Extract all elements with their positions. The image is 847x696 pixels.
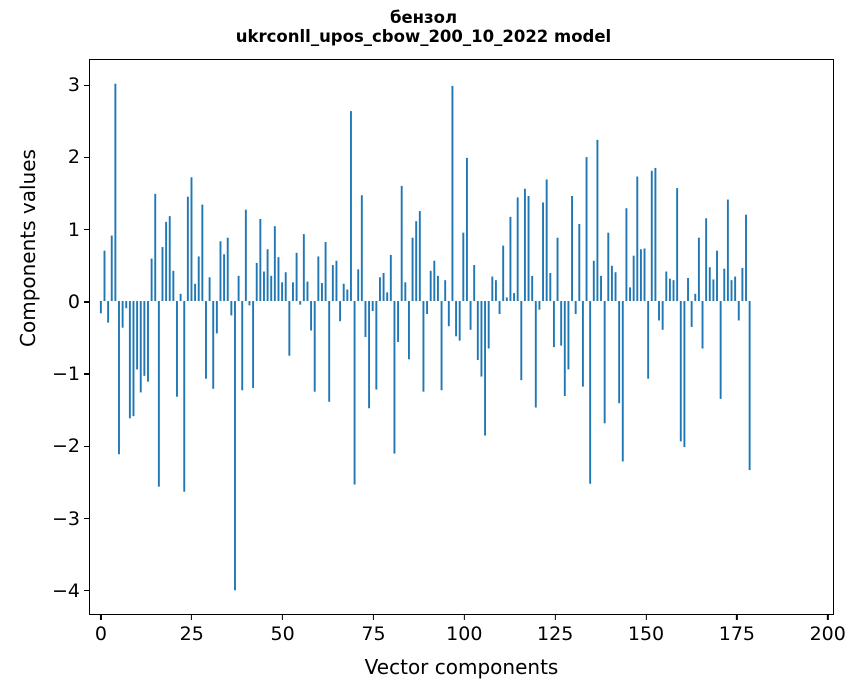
- bar: [267, 249, 269, 301]
- bar: [158, 301, 160, 487]
- y-tick-mark: [84, 301, 90, 302]
- bar: [691, 301, 693, 327]
- bar: [578, 224, 580, 301]
- bar: [332, 265, 334, 301]
- bar: [350, 111, 352, 301]
- x-tick: 150: [628, 614, 664, 645]
- bar: [104, 251, 106, 301]
- bar: [143, 301, 145, 376]
- bar: [415, 221, 417, 301]
- bar: [538, 301, 540, 310]
- x-tick-mark: [736, 614, 737, 620]
- bar: [723, 269, 725, 301]
- y-tick-mark: [84, 229, 90, 230]
- bar: [542, 202, 544, 301]
- bar: [694, 294, 696, 301]
- bar: [549, 273, 551, 301]
- x-tick-mark: [827, 614, 828, 620]
- bar: [553, 301, 555, 347]
- bar: [303, 234, 305, 301]
- bar: [615, 272, 617, 301]
- bar: [270, 276, 272, 301]
- figure: бензол ukrconll_upos_cbow_200_10_2022 mo…: [0, 0, 847, 696]
- bar: [198, 256, 200, 301]
- bar: [278, 257, 280, 301]
- bar: [140, 301, 142, 392]
- x-tick-mark: [373, 614, 374, 620]
- bar: [444, 280, 446, 301]
- bar: [223, 254, 225, 301]
- bar: [122, 301, 124, 328]
- bar: [567, 301, 569, 369]
- bar: [513, 293, 515, 301]
- bar: [368, 301, 370, 408]
- bar: [662, 301, 664, 330]
- x-tick: 0: [95, 614, 107, 645]
- bar: [705, 218, 707, 301]
- bar: [738, 301, 740, 320]
- bar: [111, 236, 113, 301]
- y-tick: 0: [68, 291, 90, 313]
- bar: [647, 301, 649, 379]
- bar: [484, 301, 486, 436]
- bar: [412, 238, 414, 301]
- bar: [386, 292, 388, 301]
- y-tick-label: 0: [68, 291, 80, 313]
- bar: [607, 233, 609, 301]
- bar: [354, 301, 356, 484]
- y-tick-mark: [84, 446, 90, 447]
- bar: [618, 301, 620, 403]
- bar: [658, 301, 660, 320]
- bar: [328, 301, 330, 402]
- x-tick: 50: [271, 614, 295, 645]
- bar: [169, 216, 171, 301]
- bar: [183, 301, 185, 492]
- bar: [394, 301, 396, 454]
- bar: [256, 263, 258, 301]
- bar: [118, 301, 120, 454]
- bar: [517, 197, 519, 301]
- bar: [491, 277, 493, 301]
- y-tick: 3: [68, 74, 90, 96]
- bar: [433, 261, 435, 301]
- bar: [622, 301, 624, 461]
- bar: [589, 301, 591, 484]
- bar: [133, 301, 135, 416]
- bar: [473, 265, 475, 301]
- bar: [596, 140, 598, 301]
- x-tick-label: 100: [446, 623, 482, 645]
- bar: [629, 287, 631, 301]
- bar: [299, 301, 301, 305]
- bar: [520, 301, 522, 380]
- bar: [680, 301, 682, 441]
- bar: [205, 301, 207, 379]
- bar: [716, 251, 718, 301]
- bar: [201, 205, 203, 301]
- bar: [216, 301, 218, 333]
- bar: [731, 280, 733, 301]
- x-tick-label: 200: [810, 623, 846, 645]
- bar: [281, 282, 283, 301]
- bar: [604, 301, 606, 423]
- y-tick-mark: [84, 85, 90, 86]
- bar: [673, 280, 675, 301]
- y-tick-label: 3: [68, 74, 80, 96]
- bar: [524, 189, 526, 301]
- bar: [480, 301, 482, 377]
- x-tick-mark: [464, 614, 465, 620]
- bar: [114, 84, 116, 301]
- bar: [502, 246, 504, 301]
- bar: [640, 249, 642, 301]
- bar: [654, 168, 656, 301]
- x-tick-label: 25: [180, 623, 204, 645]
- y-tick-mark: [84, 590, 90, 591]
- bar: [234, 301, 236, 590]
- bar: [698, 238, 700, 301]
- bar: [531, 276, 533, 301]
- bar: [676, 188, 678, 301]
- bar: [194, 284, 196, 301]
- x-tick: 25: [180, 614, 204, 645]
- bar: [600, 276, 602, 301]
- bar: [307, 282, 309, 301]
- bar: [263, 272, 265, 302]
- bar: [495, 280, 497, 301]
- x-tick-label: 50: [271, 623, 295, 645]
- bar: [546, 179, 548, 301]
- bar: [426, 301, 428, 314]
- bar: [727, 200, 729, 301]
- y-axis-label: Components values: [16, 98, 40, 398]
- bar: [288, 301, 290, 356]
- plot-axes: 3210−1−2−3−4 0255075100125150175200: [89, 59, 834, 615]
- bar: [455, 301, 457, 336]
- bar: [422, 301, 424, 392]
- bar: [734, 277, 736, 301]
- bar: [249, 301, 251, 305]
- bar: [172, 271, 174, 301]
- bar: [274, 226, 276, 301]
- bar: [292, 282, 294, 301]
- bar: [209, 277, 211, 301]
- bar: [477, 301, 479, 360]
- bar: [259, 219, 261, 301]
- bar: [390, 255, 392, 301]
- bar: [625, 208, 627, 301]
- bar: [571, 196, 573, 301]
- bar: [191, 177, 193, 301]
- bar: [310, 301, 312, 331]
- x-tick-label: 75: [361, 623, 385, 645]
- bars-group: [90, 60, 833, 614]
- bar: [651, 171, 653, 301]
- bar: [451, 86, 453, 301]
- bar: [401, 186, 403, 301]
- bar: [165, 222, 167, 301]
- bar: [633, 256, 635, 301]
- bar: [560, 301, 562, 346]
- bar: [419, 211, 421, 301]
- bar: [557, 238, 559, 301]
- y-tick: −1: [52, 363, 90, 385]
- bar: [220, 241, 222, 301]
- y-tick-label: 2: [68, 146, 80, 168]
- bar: [564, 301, 566, 396]
- x-tick: 75: [361, 614, 385, 645]
- bar: [702, 301, 704, 348]
- bar: [125, 301, 127, 308]
- y-tick-mark: [84, 518, 90, 519]
- bar: [528, 196, 530, 301]
- bar: [379, 277, 381, 301]
- bar: [100, 301, 102, 313]
- x-tick-label: 175: [719, 623, 755, 645]
- y-tick-label: −1: [52, 363, 80, 385]
- x-tick-label: 0: [95, 623, 107, 645]
- bar: [665, 272, 667, 302]
- x-tick-mark: [555, 614, 556, 620]
- bar: [448, 301, 450, 326]
- bar: [176, 301, 178, 397]
- x-tick-mark: [282, 614, 283, 620]
- bar: [466, 158, 468, 301]
- bar: [575, 301, 577, 314]
- y-tick: 1: [68, 219, 90, 241]
- chart-title-line-1: бензол: [0, 8, 847, 27]
- x-axis-label: Vector components: [89, 655, 834, 679]
- bar: [683, 301, 685, 447]
- bar: [325, 242, 327, 301]
- bar: [582, 301, 584, 387]
- x-tick-label: 150: [628, 623, 664, 645]
- bar: [361, 195, 363, 301]
- x-tick-mark: [100, 614, 101, 620]
- bar: [285, 272, 287, 301]
- bar: [151, 259, 153, 301]
- y-tick: −2: [52, 435, 90, 457]
- bar: [252, 301, 254, 388]
- bar: [506, 297, 508, 301]
- y-tick-label: −2: [52, 435, 80, 457]
- x-tick: 125: [537, 614, 573, 645]
- bar: [687, 278, 689, 301]
- bar: [154, 194, 156, 301]
- bar: [745, 215, 747, 301]
- y-tick-label: 1: [68, 219, 80, 241]
- bar: [357, 269, 359, 301]
- bar: [162, 247, 164, 301]
- x-tick-mark: [191, 614, 192, 620]
- bar: [636, 177, 638, 301]
- bar: [408, 301, 410, 359]
- bar: [187, 197, 189, 301]
- x-tick-mark: [645, 614, 646, 620]
- bar: [488, 301, 490, 348]
- bar: [375, 301, 377, 390]
- bar: [343, 284, 345, 301]
- chart-title: бензол ukrconll_upos_cbow_200_10_2022 mo…: [0, 8, 847, 47]
- bar: [430, 271, 432, 301]
- bar: [586, 157, 588, 301]
- bar: [712, 279, 714, 301]
- chart-title-line-2: ukrconll_upos_cbow_200_10_2022 model: [0, 27, 847, 46]
- bar: [372, 301, 374, 311]
- x-tick: 175: [719, 614, 755, 645]
- bar: [535, 301, 537, 407]
- bar: [499, 301, 501, 314]
- y-tick: −3: [52, 508, 90, 530]
- bar: [611, 266, 613, 301]
- bar: [509, 217, 511, 301]
- bar: [245, 210, 247, 301]
- bar: [383, 273, 385, 301]
- bar: [720, 301, 722, 399]
- bar: [314, 301, 316, 392]
- bar: [669, 279, 671, 301]
- bar: [346, 290, 348, 302]
- bar: [180, 294, 182, 301]
- bar: [709, 267, 711, 301]
- bar: [296, 253, 298, 301]
- bar: [317, 256, 319, 301]
- bar: [321, 283, 323, 301]
- bar: [749, 301, 751, 470]
- y-tick-mark: [84, 373, 90, 374]
- bar: [365, 301, 367, 337]
- bar-plot-area: [90, 60, 833, 614]
- bar: [136, 301, 138, 369]
- bar: [227, 238, 229, 301]
- bar: [212, 301, 214, 389]
- bar: [437, 276, 439, 301]
- y-tick-label: −4: [52, 580, 80, 602]
- bar: [238, 276, 240, 301]
- bar: [593, 261, 595, 301]
- bar: [397, 301, 399, 342]
- x-tick: 200: [810, 614, 846, 645]
- bar: [230, 301, 232, 315]
- x-tick: 100: [446, 614, 482, 645]
- bar: [129, 301, 131, 418]
- bar: [339, 301, 341, 321]
- bar: [462, 233, 464, 301]
- x-tick-label: 125: [537, 623, 573, 645]
- bar: [147, 301, 149, 382]
- y-tick: −4: [52, 580, 90, 602]
- bar: [336, 261, 338, 301]
- y-tick-mark: [84, 157, 90, 158]
- bar: [404, 282, 406, 301]
- bar: [741, 268, 743, 301]
- bar: [644, 248, 646, 301]
- bar: [459, 301, 461, 341]
- y-tick-label: −3: [52, 508, 80, 530]
- bar: [441, 301, 443, 390]
- bar: [107, 301, 109, 323]
- y-tick: 2: [68, 146, 90, 168]
- bar: [470, 301, 472, 330]
- bar: [241, 301, 243, 390]
